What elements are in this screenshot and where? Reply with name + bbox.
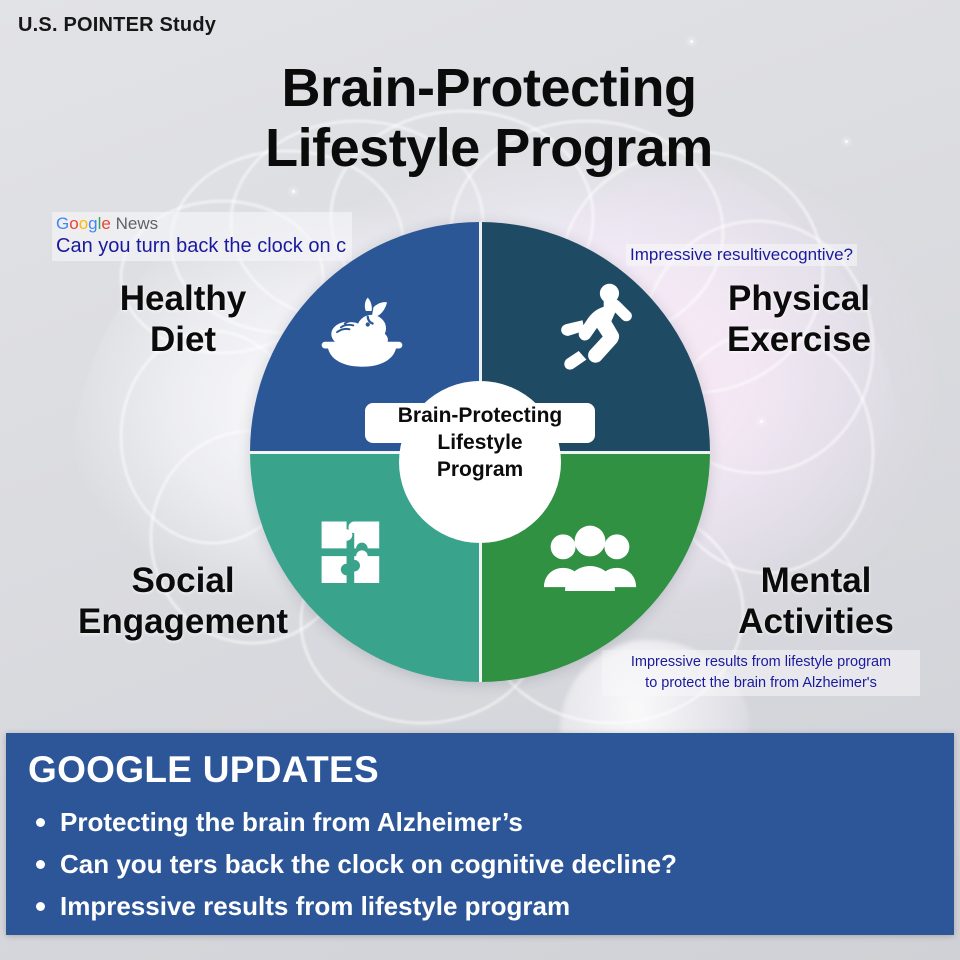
puzzle-pieces-icon: [312, 510, 408, 606]
list-item: Impressive results from lifestyle progra…: [28, 893, 938, 919]
label-physical-exercise-line-1: Physical: [668, 278, 930, 319]
google-news-word: News: [116, 214, 159, 233]
center-label-line-2: Lifestyle: [359, 430, 601, 457]
center-label-line-1: Brain-Protecting: [359, 403, 601, 430]
google-logo-g1: G: [56, 214, 69, 233]
banner-bullet-list: Protecting the brain from Alzheimer’s Ca…: [28, 809, 938, 935]
sparkle-1: [690, 40, 693, 43]
google-logo-o1: o: [69, 214, 78, 233]
google-logo-e: e: [101, 214, 110, 233]
sparkle-3: [292, 190, 295, 193]
label-physical-exercise: Physical Exercise: [668, 278, 930, 361]
headline-line-2: Lifestyle Program: [18, 118, 960, 178]
label-physical-exercise-line-2: Exercise: [668, 319, 930, 360]
label-mental-activities-line-2: Activities: [690, 601, 942, 642]
list-item: Can you ters back the clock on cognitive…: [28, 851, 938, 877]
label-healthy-diet: Healthy Diet: [72, 278, 294, 361]
study-tag: U.S. POINTER Study: [18, 14, 216, 37]
sparkle-4: [760, 420, 763, 423]
wheel-center-badge: Brain-Protecting Lifestyle Program: [399, 381, 561, 543]
running-person-icon: [548, 278, 644, 374]
label-mental-activities: Mental Activities: [690, 560, 942, 643]
list-item: Protecting the brain from Alzheimer’s: [28, 809, 938, 835]
google-logo-o2: o: [79, 214, 88, 233]
label-healthy-diet-line-1: Healthy: [72, 278, 294, 319]
label-mental-activities-line-1: Mental: [690, 560, 942, 601]
infographic-canvas: U.S. POINTER Study Brain-Protecting Life…: [0, 0, 960, 960]
label-social-engagement: Social Engagement: [56, 560, 310, 643]
label-social-engagement-line-2: Engagement: [56, 601, 310, 642]
center-label-line-3: Program: [359, 457, 601, 484]
google-updates-banner: GOOGLE UPDATES Protecting the brain from…: [6, 733, 954, 935]
page-title: Brain-Protecting Lifestyle Program: [0, 58, 960, 179]
label-social-engagement-line-1: Social: [56, 560, 310, 601]
food-bowl-icon: [314, 288, 410, 384]
center-label: Brain-Protecting Lifestyle Program: [359, 403, 601, 484]
label-healthy-diet-line-2: Diet: [72, 319, 294, 360]
banner-title: GOOGLE UPDATES: [28, 749, 379, 791]
google-logo-g2: g: [88, 214, 97, 233]
headline-line-1: Brain-Protecting: [281, 58, 696, 118]
